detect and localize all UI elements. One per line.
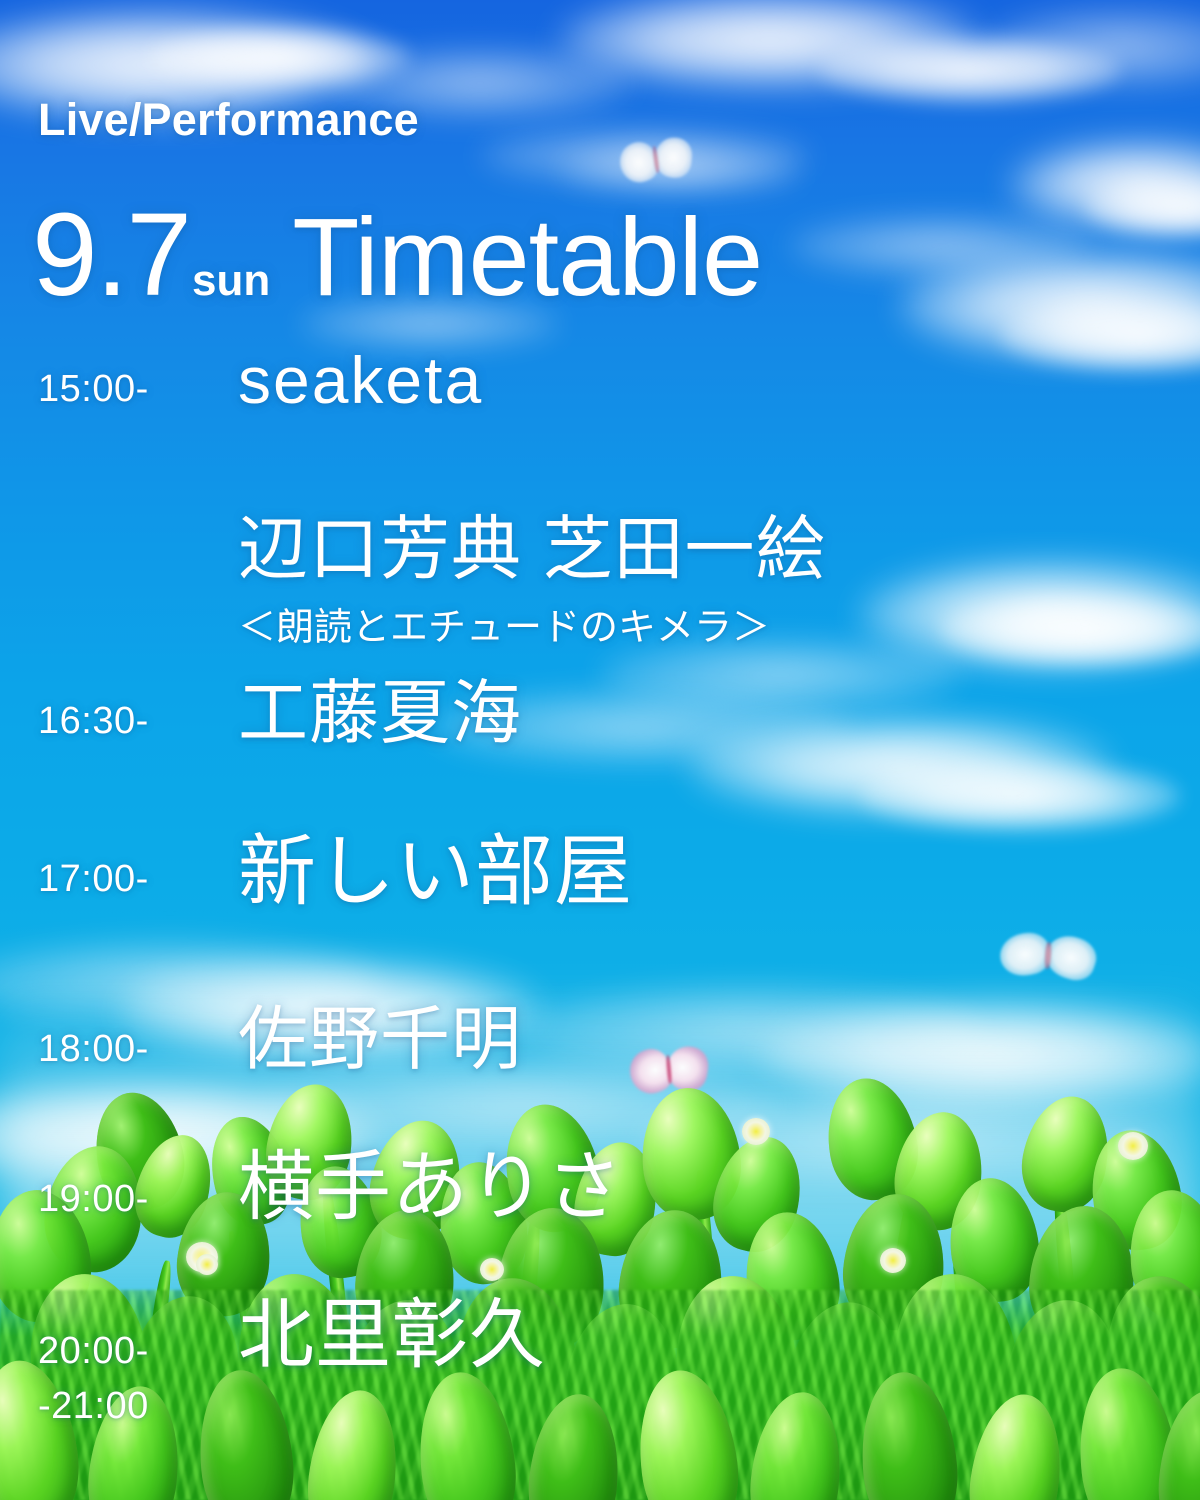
flower-icon [742, 1118, 770, 1145]
schedule-time: 15:00- [38, 368, 149, 411]
flower-icon [880, 1248, 906, 1273]
cloud-icon [860, 760, 1180, 832]
page-title: 9.7 sun Timetable [32, 196, 762, 314]
flower-icon [1118, 1132, 1148, 1160]
schedule-time-start: 19:00- [38, 1178, 149, 1220]
schedule-time: 18:00- [38, 1028, 149, 1071]
title-day-of-week: sun [192, 256, 270, 306]
schedule-performer: 辺口芳典 芝田一絵 [238, 512, 826, 586]
plant-layer [0, 1060, 1200, 1500]
title-date: 9.7 [32, 196, 190, 314]
schedule-time-start: 15:00- [38, 368, 149, 410]
title-heading: Timetable [292, 203, 762, 313]
schedule-time: 19:00- [38, 1178, 149, 1221]
schedule-time-start: 16:30- [38, 700, 149, 742]
schedule-time-start: 18:00- [38, 1028, 149, 1070]
schedule-time: 16:30- [38, 700, 149, 743]
schedule-time-start: 17:00- [38, 858, 149, 900]
schedule-subtitle: ＜朗読とエチュードのキメラ＞ [238, 596, 770, 651]
schedule-performer: 新しい部屋 [238, 830, 633, 913]
flower-icon [480, 1258, 504, 1281]
schedule-time: 20:00- -21:00 [38, 1330, 149, 1428]
schedule-time: 17:00- [38, 858, 149, 901]
schedule-performer: seaketa [238, 346, 483, 416]
schedule-performer: 佐野千明 [238, 1002, 522, 1076]
schedule-performer: 工藤夏海 [238, 676, 522, 750]
schedule-time-start: 20:00- [38, 1330, 149, 1372]
schedule-performer: 横手ありさ [238, 1148, 623, 1229]
flower-icon [196, 1254, 218, 1275]
schedule-performer: 北里彰久 [238, 1296, 546, 1377]
butterfly-icon [999, 932, 1098, 981]
section-label: Live/Performance [38, 94, 419, 146]
schedule-time-end: -21:00 [38, 1385, 149, 1428]
butterfly-wing-right [652, 136, 693, 180]
timetable-poster: Live/Performance 9.7 sun Timetable 15:00… [0, 0, 1200, 1500]
